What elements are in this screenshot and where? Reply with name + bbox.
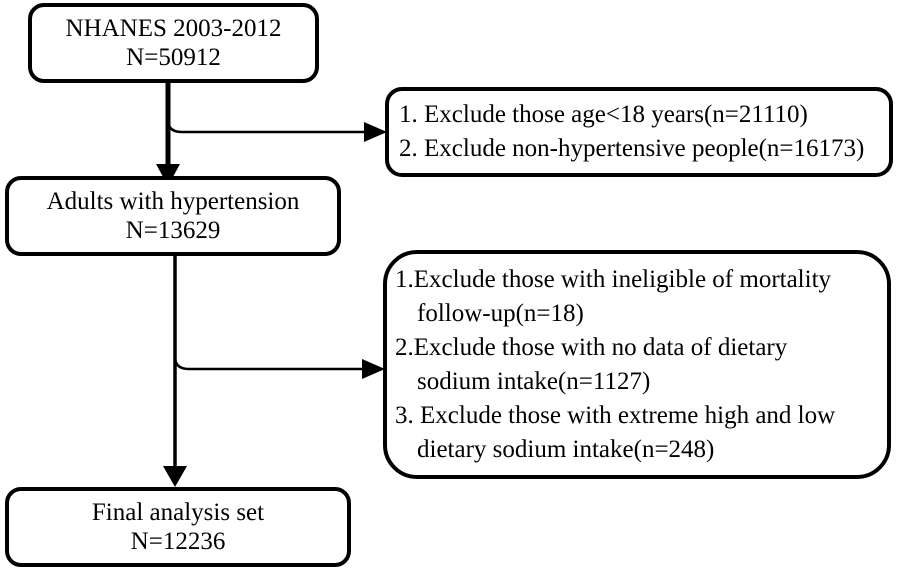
node-final-analysis-set: Final analysis set N=12236 bbox=[5, 487, 351, 567]
node-source-cohort: NHANES 2003-2012 N=50912 bbox=[28, 3, 319, 83]
study-flow-diagram: NHANES 2003-2012 N=50912 1. Exclude thos… bbox=[0, 0, 900, 571]
node-final-count: N=12236 bbox=[131, 527, 226, 557]
exclusion-stage-2-item-2-cont: sodium intake(n=1127) bbox=[395, 365, 650, 399]
arrowhead-final bbox=[163, 466, 187, 487]
node-exclusion-stage-1: 1. Exclude those age<18 years(n=21110) 2… bbox=[385, 87, 893, 177]
node-adults-with-hypertension: Adults with hypertension N=13629 bbox=[5, 176, 341, 256]
exclusion-stage-2-item-3: 3. Exclude those with extreme high and l… bbox=[395, 399, 835, 433]
connector-adults-to-exclusion-2 bbox=[175, 357, 364, 369]
node-source-cohort-label: NHANES 2003-2012 bbox=[66, 14, 282, 44]
connector-cohort-to-exclusion-1 bbox=[168, 120, 366, 132]
arrowhead-exclusion-1 bbox=[364, 122, 387, 142]
node-adults-label: Adults with hypertension bbox=[47, 187, 300, 217]
node-exclusion-stage-2: 1.Exclude those with ineligible of morta… bbox=[383, 250, 891, 479]
node-final-label: Final analysis set bbox=[92, 498, 264, 528]
exclusion-stage-1-item-1: 1. Exclude those age<18 years(n=21110) bbox=[399, 98, 808, 133]
exclusion-stage-2-item-1: 1.Exclude those with ineligible of morta… bbox=[395, 263, 831, 297]
exclusion-stage-1-item-2: 2. Exclude non-hypertensive people(n=161… bbox=[399, 132, 864, 167]
arrowhead-exclusion-2 bbox=[362, 359, 385, 379]
node-adults-count: N=13629 bbox=[126, 216, 221, 246]
exclusion-stage-2-item-1-cont: follow-up(n=18) bbox=[395, 297, 584, 331]
exclusion-stage-2-item-2: 2.Exclude those with no data of dietary bbox=[395, 331, 787, 365]
exclusion-stage-2-item-3-cont: dietary sodium intake(n=248) bbox=[395, 433, 714, 467]
node-source-cohort-count: N=50912 bbox=[126, 43, 221, 73]
